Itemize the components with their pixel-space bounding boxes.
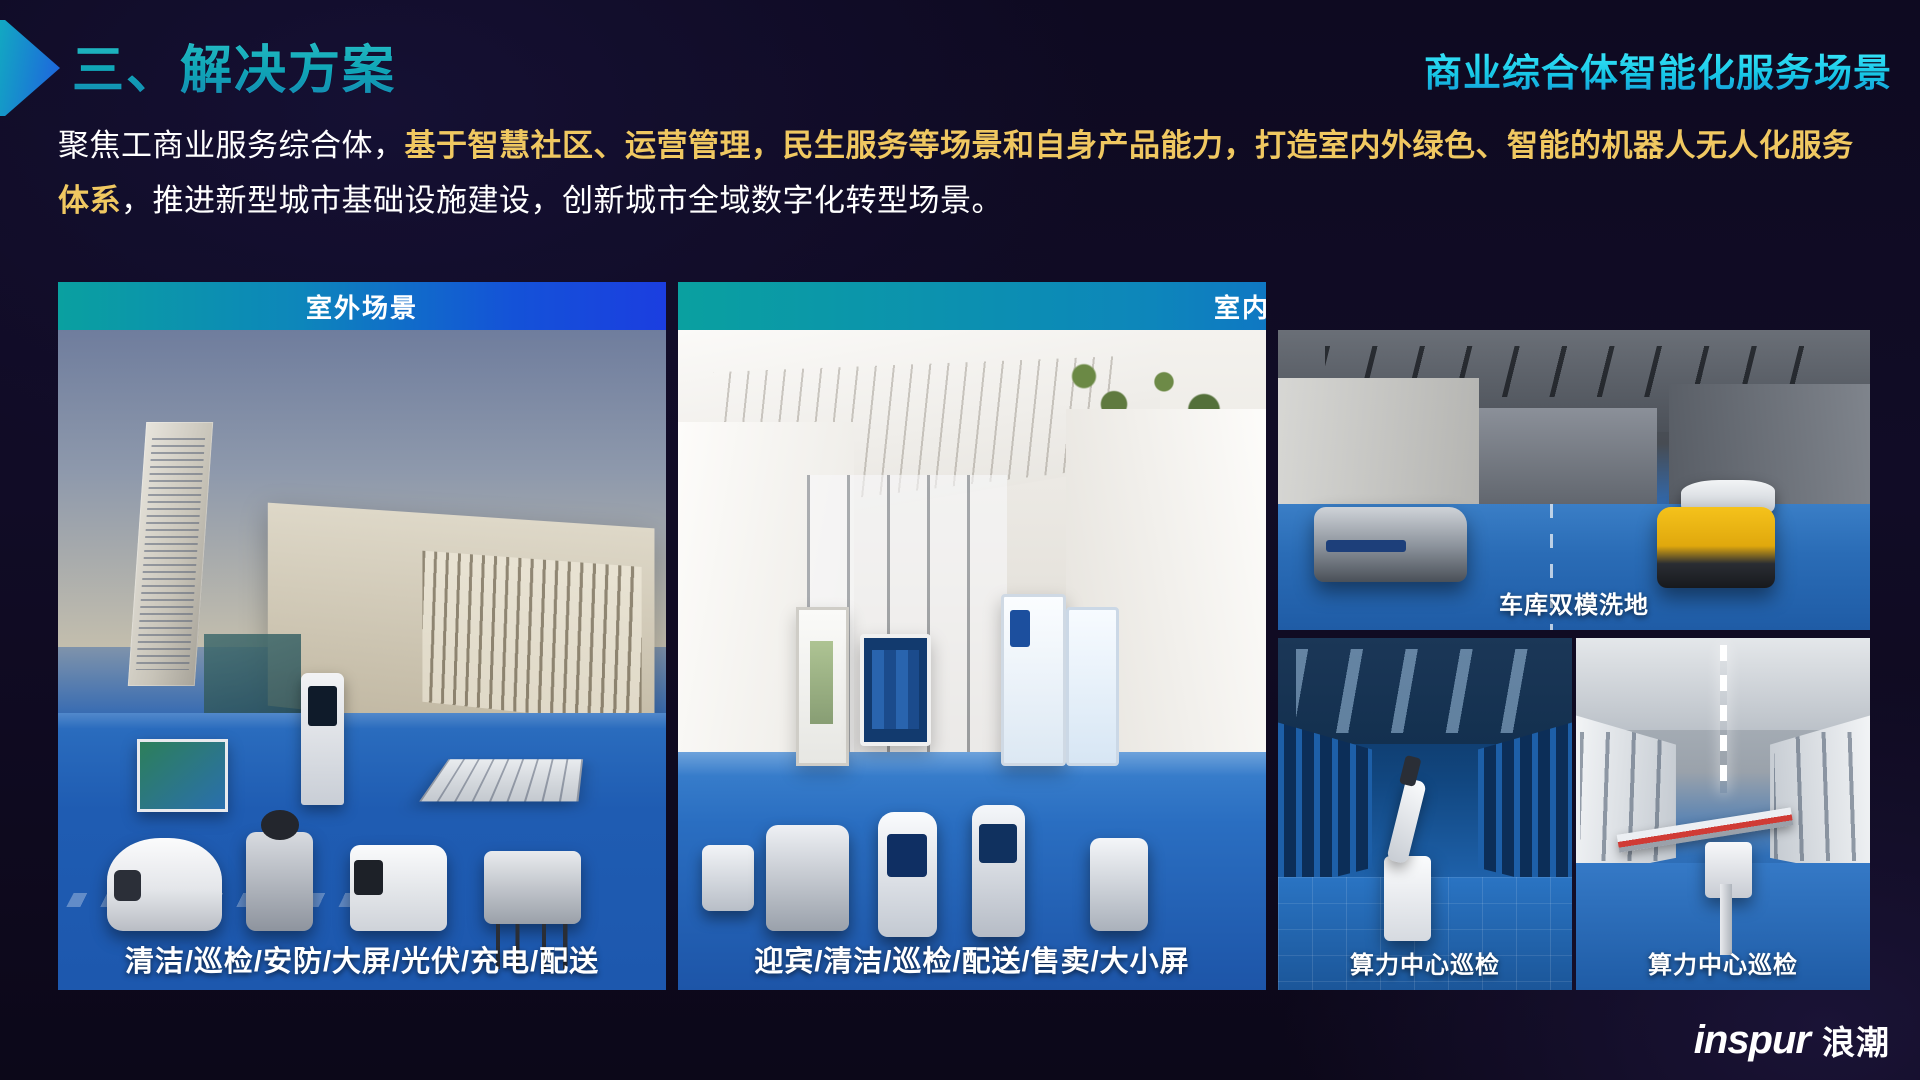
chevron-arrow-decoration (0, 20, 60, 116)
art-display-panel (796, 607, 849, 765)
brand-logo: inspur 浪潮 (1694, 1016, 1890, 1064)
patrol-robot (246, 832, 313, 931)
datacenter-ceiling-lights (1278, 638, 1572, 744)
grey-scrubber-robot (1314, 507, 1468, 582)
panel-datacenter-arm-image: 算力中心巡检 (1278, 638, 1572, 990)
garage-far-wall (1479, 408, 1657, 510)
panel-datacenter-rail-image: 算力中心巡检 (1576, 638, 1870, 990)
ev-charging-station (301, 673, 344, 805)
panel-indoor-caption: 迎宾/清洁/巡检/配送/售卖/大小屏 (678, 938, 1266, 980)
page-title: 三、解决方案 (72, 28, 396, 103)
panel-garage-image: 车库双模洗地 (1278, 330, 1870, 630)
outdoor-large-screen (137, 739, 228, 812)
paragraph-segment-highlight-2: 民生服务等场景和自身产品能力，打造室内外绿色、智能的 (783, 128, 1602, 163)
vending-machine (1001, 594, 1066, 766)
panel-datacenter-rail-caption: 算力中心巡检 (1576, 945, 1870, 980)
interactive-display-screen (860, 634, 931, 746)
slide-root: 三、解决方案 商业综合体智能化服务场景 聚焦工商业服务综合体，基于智慧社区、运营… (0, 0, 1920, 1080)
server-rack-row-left (1278, 722, 1372, 891)
logo-text-cn: 浪潮 (1822, 1016, 1890, 1064)
panel-garage-caption: 车库双模洗地 (1278, 585, 1870, 620)
equipment-cabinets-left (1576, 715, 1676, 877)
equipment-cabinets-right (1770, 715, 1870, 877)
indoor-small-cleaning-robot (702, 845, 755, 911)
panel-outdoor-header: 室外场景 (58, 282, 666, 330)
panel-indoor-scene[interactable]: 室内场景 迎宾/清洁/巡检/配送/售卖/大小屏 (678, 282, 1266, 990)
indoor-scrubber-robot (766, 825, 848, 931)
paragraph-segment-plain-1: 聚焦工商业服务综合体， (58, 128, 405, 163)
logo-text-en: inspur (1694, 1018, 1810, 1063)
paragraph-segment-highlight-1: 基于智慧社区、运营管理， (405, 128, 783, 163)
delivery-robot (350, 845, 447, 931)
panel-indoor-header: 室内场景 (678, 282, 1266, 330)
panel-datacenter-rail-scene[interactable]: 算力中心巡检 (1576, 638, 1870, 990)
indoor-reception-robot (878, 812, 937, 937)
yellow-ride-on-scrubber (1657, 507, 1775, 588)
panel-garage-scene[interactable]: 车库双模洗地 (1278, 282, 1870, 630)
garage-left-wall (1278, 378, 1479, 516)
ceiling-light-strip (1720, 645, 1727, 793)
panel-outdoor-image: 清洁/巡检/安防/大屏/光伏/充电/配送 (58, 330, 666, 990)
cleaning-robot (107, 838, 223, 930)
secondary-vending-kiosk (1066, 607, 1119, 765)
indoor-patrol-robot (1090, 838, 1149, 930)
photovoltaic-array (419, 759, 583, 801)
robotic-arm (1386, 778, 1426, 865)
intro-paragraph: 聚焦工商业服务综合体，基于智慧社区、运营管理，民生服务等场景和自身产品能力，打造… (58, 118, 1870, 228)
quadruped-robot-dog (484, 851, 581, 924)
panel-datacenter-arm-scene[interactable]: 算力中心巡检 (1278, 638, 1572, 990)
panel-outdoor-scene[interactable]: 室外场景 清洁/巡检/安防/大屏/光伏/充电/配送 (58, 282, 666, 990)
indoor-delivery-robot (972, 805, 1025, 937)
paragraph-segment-plain-2: ，推进新型城市基础设施建设，创新城市全域数字化转型场景。 (121, 183, 1003, 218)
server-rack-row-right (1478, 722, 1572, 891)
panel-datacenter-arm-caption: 算力中心巡检 (1278, 945, 1572, 980)
topic-title: 商业综合体智能化服务场景 (1424, 42, 1892, 97)
panel-indoor-image: 迎宾/清洁/巡检/配送/售卖/大小屏 (678, 330, 1266, 990)
inspection-robot-base (1384, 856, 1431, 940)
panel-outdoor-caption: 清洁/巡检/安防/大屏/光伏/充电/配送 (58, 938, 666, 980)
